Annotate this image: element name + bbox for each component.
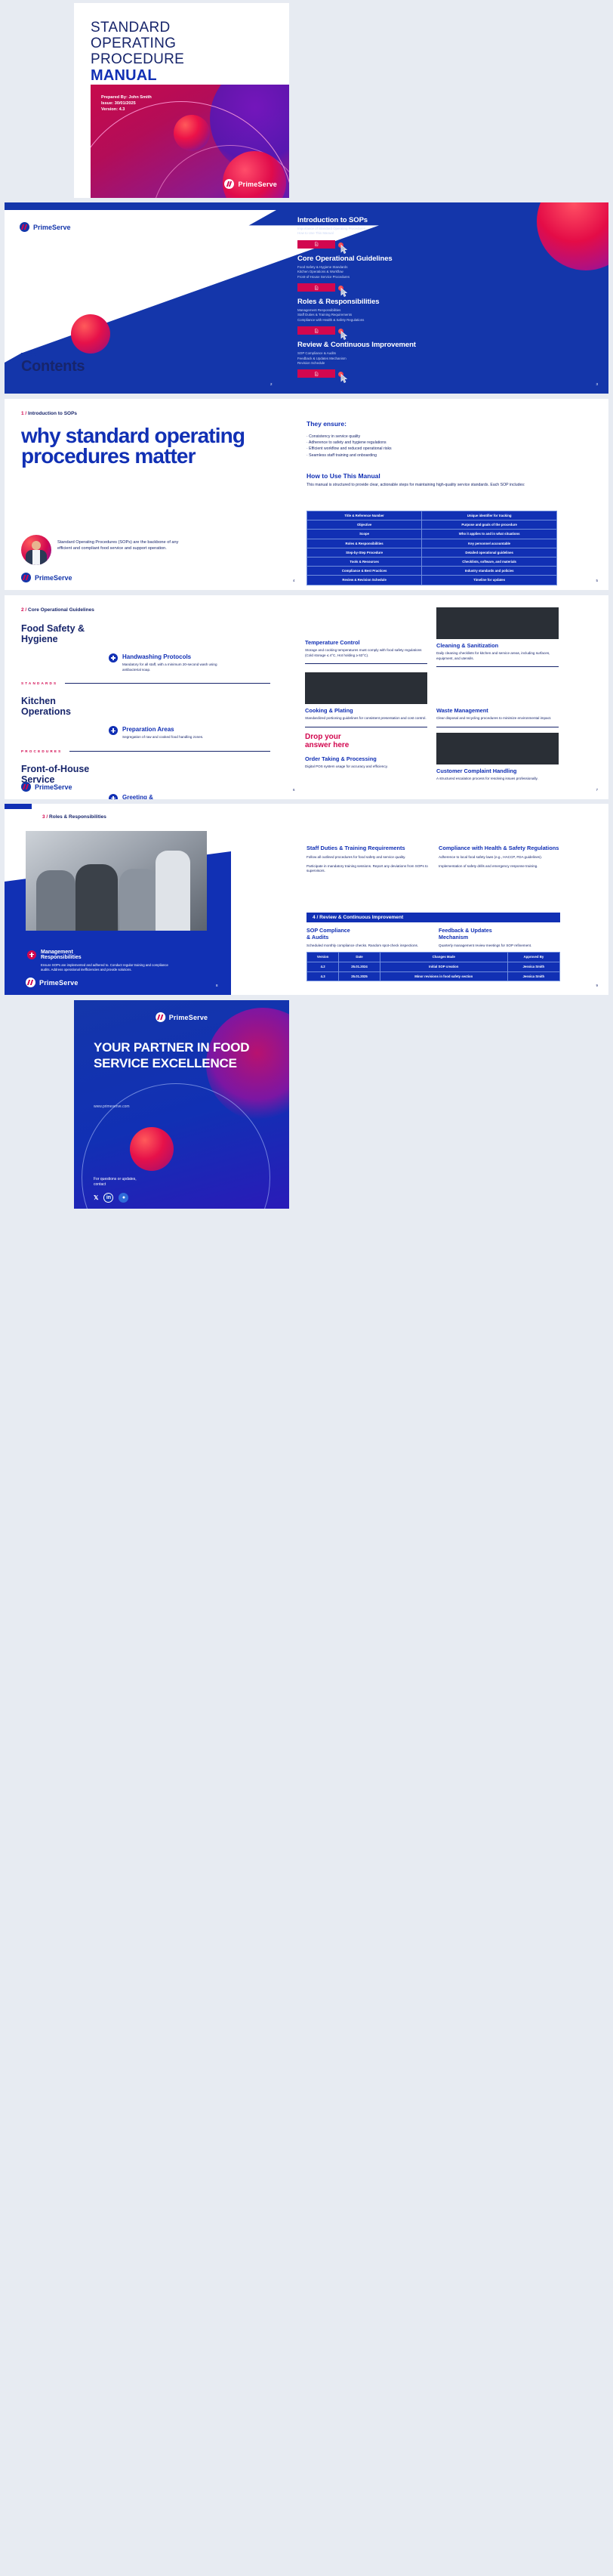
document-icon (314, 372, 319, 376)
page-number-left: 8 (216, 984, 218, 987)
card-body: Storage and cooking temperatures must co… (305, 648, 427, 658)
toc-logo: PrimeServe (20, 222, 71, 232)
toc-sphere-left (71, 314, 110, 354)
card-title: Compliance with Health & Safety Regulati… (439, 845, 560, 851)
card-body-1: Adherence to local food safety laws (e.g… (439, 855, 560, 860)
card-body: A structured escalation process for reso… (436, 777, 559, 782)
sop-structure-table: Title & Reference NumberUnique identifie… (306, 511, 557, 585)
divider-standards: STANDARDS (21, 681, 270, 685)
table-cell: Who it applies to and in what situations (422, 530, 557, 539)
messenger-icon[interactable]: ● (119, 1193, 128, 1203)
divider-line (305, 727, 427, 727)
table-row: 4.2 25.01.2024 Initial SOP creation Jess… (307, 962, 560, 971)
card-customer-complaint: Customer Complaint Handling A structured… (436, 733, 559, 782)
column-header: Version (307, 953, 339, 962)
list-item: Consistency in service quality (306, 434, 556, 440)
divider-line (69, 751, 270, 752)
cover-logo: PrimeServe (224, 179, 277, 189)
table-row: Compliance & Best PracticesIndustry stan… (307, 567, 557, 576)
cover-version: Version: 4.3 (101, 107, 152, 113)
page-number-left: 2 (270, 382, 273, 386)
how-to-use-heading: How to Use This Manual (306, 472, 556, 480)
table-cell: Minor revisions in food safety section (380, 971, 507, 981)
primeserve-logo-icon (20, 222, 29, 232)
card-body: Daily cleaning checklists for kitchen an… (436, 651, 559, 661)
cursor-pointer-icon (338, 372, 348, 383)
cover-metadata: Prepared By: John Smith Issue: 30/01/202… (101, 94, 152, 113)
table-row: ScopeWho it applies to and in what situa… (307, 530, 557, 539)
toc-item-title: Roles & Responsibilities (297, 298, 547, 306)
cover-page: STANDARD OPERATING PROCEDURE MANUAL Prep… (74, 3, 289, 198)
divider-line (305, 663, 427, 664)
group-subitem-preparation[interactable]: Preparation Areas Segregation of raw and… (109, 726, 270, 740)
revision-history-table: Version Date Changes Made Approved By 4.… (306, 952, 560, 981)
divider-label: PROCEDURES (21, 749, 62, 753)
back-sphere-decoration (130, 1127, 174, 1171)
toc-heading-block: Table of Contents (21, 353, 85, 375)
card-title: Cleaning & Sanitization (436, 642, 559, 649)
cover-title-line3: PROCEDURE (91, 51, 272, 67)
table-row: ObjectivePurpose and goals of the proced… (307, 520, 557, 530)
section-name: Core Operational Guidelines (26, 607, 94, 613)
subitem-title: Greeting & Seating (122, 794, 236, 799)
card-title: Customer Complaint Handling (436, 768, 559, 774)
table-cell: Tools & Resources (307, 557, 422, 566)
why-caption: Standard Operating Procedures (SOPs) are… (57, 539, 186, 551)
card-compliance-health-safety: Compliance with Health & Safety Regulati… (439, 845, 560, 874)
cover-sphere-small (174, 115, 210, 151)
card-body: Standardized portioning guidelines for c… (305, 716, 427, 721)
table-cell: Purpose and goals of the procedure (422, 520, 557, 530)
toc-logo-text: PrimeServe (33, 224, 71, 231)
group-title-kitchen: Kitchen Operations (21, 696, 270, 717)
list-item: Efficient workflow and reduced operation… (306, 446, 556, 452)
roles-cards: Staff Duties & Training Requirements Fol… (306, 845, 560, 874)
plus-icon[interactable] (27, 950, 36, 959)
table-cell: Compliance & Best Practices (307, 567, 422, 576)
table-cell: Detailed operational guidelines (422, 548, 557, 557)
cursor-pointer-icon (338, 329, 348, 340)
card-cleaning-sanitization: Cleaning & Sanitization Daily cleaning c… (436, 607, 559, 672)
back-headline: YOUR PARTNER IN FOOD SERVICE EXCELLENCE (94, 1039, 267, 1071)
linkedin-icon[interactable]: in (103, 1193, 113, 1203)
card-body-1: Follow all outlined procedures for food … (306, 855, 428, 860)
table-cell: Scope (307, 530, 422, 539)
card-order-taking: Drop your answer here Order Taking & Pro… (305, 733, 427, 782)
page-number-right: 7 (596, 788, 598, 792)
table-cell: Jessica Smith (507, 971, 559, 981)
toc-title: Contents (21, 358, 85, 375)
subitem-title: Preparation Areas (122, 726, 236, 733)
page-number-right: 9 (596, 984, 598, 987)
document-icon (314, 286, 319, 290)
introduction-page: 1 / Introduction to SOPs why standard op… (5, 399, 608, 590)
table-cell: Jessica Smith (507, 962, 559, 971)
card-title: Cooking & Plating (305, 707, 427, 714)
card-sop-compliance: SOP Compliance & Audits Scheduled monthl… (306, 928, 428, 949)
drop-answer-prompt: Drop your answer here (305, 733, 427, 749)
how-to-use-body: This manual is structured to provide cle… (306, 483, 556, 489)
column-header: Approved By (507, 953, 559, 962)
avatar (21, 535, 51, 565)
toc-item-core-operational[interactable]: Core Operational Guidelines Food Safety … (297, 255, 547, 292)
why-right-column: They ensure: Consistency in service qual… (306, 420, 556, 488)
card-feedback-updates: Feedback & Updates Mechanism Quarterly m… (439, 928, 560, 949)
cursor-pointer-icon (338, 242, 348, 254)
card-body-2: Participate in mandatory training sessio… (306, 864, 428, 874)
primeserve-logo-icon (21, 573, 31, 582)
review-cards: SOP Compliance & Audits Scheduled monthl… (306, 928, 560, 949)
group-subitem-handwashing[interactable]: Handwashing Protocols Mandatory for all … (109, 653, 270, 672)
divider-line (436, 666, 559, 667)
back-cover-page: PrimeServe YOUR PARTNER IN FOOD SERVICE … (74, 1000, 289, 1209)
management-body: Ensure SOPs are implemented and adhered … (41, 963, 171, 972)
card-cooking-plating: Cooking & Plating Standardized portionin… (305, 672, 427, 733)
back-logo: PrimeServe (156, 1012, 208, 1022)
section-name: Roles & Responsibilities (48, 814, 106, 820)
cover-issue-date: Issue: 30/01/2025 (101, 100, 152, 107)
plated-dish-photo (305, 672, 427, 704)
table-cell: 4.2 (307, 962, 339, 971)
card-body: Clear disposal and recycling procedures … (436, 716, 559, 721)
primeserve-logo-icon (21, 782, 31, 792)
card-waste-management: Waste Management Clear disposal and recy… (436, 672, 559, 733)
cover-logo-text: PrimeServe (238, 181, 277, 188)
footer-logo-text: PrimeServe (35, 783, 72, 791)
page-number-left: 4 (293, 579, 295, 582)
toc-items-list: Introduction to SOPs Importance of Stand… (297, 216, 547, 384)
footer-logo-text: PrimeServe (35, 574, 72, 582)
list-item: Seamless staff training and onboarding (306, 452, 556, 459)
toc-item-title: Review & Continuous Improvement (297, 341, 547, 349)
card-title: Waste Management (436, 707, 559, 714)
they-ensure-list: Consistency in service quality Adherence… (306, 434, 556, 459)
management-responsibilities-block: Management Responsibilities Ensure SOPs … (27, 950, 171, 972)
section-name: Introduction to SOPs (26, 411, 77, 416)
section-label: 1 / Introduction to SOPs (21, 411, 248, 416)
footer-logo-text: PrimeServe (39, 979, 79, 987)
toc-item-roles[interactable]: Roles & Responsibilities Management Resp… (297, 298, 547, 335)
roles-footer-logo: PrimeServe (26, 978, 79, 987)
toc-item-sublines: Food Safety & Hygiene Standards Kitchen … (297, 265, 547, 280)
toc-item-button[interactable] (297, 283, 335, 292)
toc-item-button[interactable] (297, 369, 335, 378)
card-body: Quarterly management review meetings for… (439, 944, 560, 949)
table-row: Step-by-Step ProcedureDetailed operation… (307, 548, 557, 557)
cover-title-line2: OPERATING (91, 36, 272, 51)
table-cell: 25.01.2024 (339, 962, 380, 971)
column-header: Changes Made (380, 953, 507, 962)
table-row: Tools & ResourcesChecklists, software, a… (307, 557, 557, 566)
table-cell: Step-by-Step Procedure (307, 548, 422, 557)
card-title: Order Taking & Processing (305, 755, 427, 762)
why-headline: why standard operating procedures matter (21, 425, 248, 466)
table-header-row: Version Date Changes Made Approved By (307, 953, 560, 962)
toc-item-introduction[interactable]: Introduction to SOPs Importance of Stand… (297, 216, 547, 249)
management-title: Management Responsibilities (41, 950, 82, 960)
card-title: SOP Compliance & Audits (306, 928, 428, 941)
page-number-left: 6 (293, 788, 295, 792)
table-cell: Checklists, software, and materials (422, 557, 557, 566)
table-cell: Key personnel accountable (422, 539, 557, 548)
table-cell: Roles & Responsibilities (307, 539, 422, 548)
table-of-contents-page: PrimeServe Table of Contents Introductio… (5, 202, 608, 394)
plus-icon[interactable] (109, 726, 118, 735)
why-footer-logo: PrimeServe (21, 573, 72, 582)
group-subitem-greeting[interactable]: Greeting & Seating Standardized welcome … (109, 794, 270, 799)
page-number-right: 3 (596, 382, 598, 386)
table-cell: Review & Revision Schedule (307, 576, 422, 585)
cover-title: STANDARD OPERATING PROCEDURE MANUAL (91, 20, 272, 84)
toc-item-sublines: Management Responsibilities Staff Duties… (297, 308, 547, 323)
cover-prepared-by: Prepared By: John Smith (101, 94, 152, 100)
subitem-title: Handwashing Protocols (122, 653, 236, 660)
core-cards-grid: Temperature Control Storage and cooking … (305, 607, 559, 781)
table-cell: 25.01.2025 (339, 971, 380, 981)
table-cell: Title & Reference Number (307, 511, 422, 520)
section-label: 3 / Roles & Responsibilities (42, 814, 106, 820)
back-website-url[interactable]: www.primeserve.com (94, 1104, 130, 1109)
card-title: Staff Duties & Training Requirements (306, 845, 428, 851)
subitem-body: Mandatory for all staff, with a minimum … (122, 663, 236, 672)
table-cell: Timeline for updates (422, 576, 557, 585)
management-team-photo (26, 831, 207, 931)
why-left-column: 1 / Introduction to SOPs why standard op… (21, 411, 248, 466)
list-item: Adherence to safety and hygiene regulati… (306, 440, 556, 446)
toc-item-sublines: SOP Compliance & Audits Feedback & Updat… (297, 351, 547, 366)
table-cell: 4.3 (307, 971, 339, 981)
table-row: Roles & ResponsibilitiesKey personnel ac… (307, 539, 557, 548)
back-contact-text: For questions or updates, contact (94, 1177, 137, 1188)
toc-item-button[interactable] (297, 240, 335, 249)
card-temperature-control: Temperature Control Storage and cooking … (305, 607, 427, 672)
toc-item-button[interactable] (297, 326, 335, 335)
section-4-bar: 4 / Review & Continuous Improvement (306, 913, 560, 922)
divider-line (65, 683, 270, 684)
table-row: 4.3 25.01.2025 Minor revisions in food s… (307, 971, 560, 981)
divider-label: STANDARDS (21, 681, 57, 685)
table-row: Review & Revision ScheduleTimeline for u… (307, 576, 557, 585)
cover-title-line1: STANDARD (91, 20, 272, 36)
roles-responsibilities-page: 3 / Roles & Responsibilities Management … (5, 804, 608, 995)
page-number-right: 5 (596, 579, 598, 582)
table-cell: Industry standards and policies (422, 567, 557, 576)
toc-item-title: Introduction to SOPs (297, 216, 547, 224)
group-title-food-safety: Food Safety & Hygiene (21, 623, 270, 644)
card-title: Temperature Control (305, 639, 427, 646)
primeserve-logo-icon (26, 978, 35, 987)
they-ensure-heading: They ensure: (306, 420, 556, 428)
card-body-2: Implementation of safety drills and emer… (439, 864, 560, 869)
core-left-column: 2 / Core Operational Guidelines Food Saf… (21, 607, 270, 799)
divider-line (436, 727, 559, 727)
document-icon (314, 242, 319, 246)
table-cell: Objective (307, 520, 422, 530)
plus-icon[interactable] (109, 794, 118, 799)
cover-title-manual: MANUAL (91, 68, 272, 84)
card-title: Feedback & Updates Mechanism (439, 928, 560, 941)
accent-bar (5, 804, 32, 809)
social-links: 𝕏 in ● (94, 1193, 128, 1203)
plus-icon[interactable] (109, 653, 118, 663)
toc-item-review[interactable]: Review & Continuous Improvement SOP Comp… (297, 341, 547, 378)
card-staff-duties: Staff Duties & Training Requirements Fol… (306, 845, 428, 874)
toc-item-title: Core Operational Guidelines (297, 255, 547, 263)
toc-item-sublines: Importance of Standard Operating Procedu… (297, 227, 547, 236)
kitchen-sink-photo (436, 607, 559, 639)
restaurant-guests-photo (436, 733, 559, 764)
core-operational-guidelines-page: 2 / Core Operational Guidelines Food Saf… (5, 595, 608, 799)
table-cell: Initial SOP creation (380, 962, 507, 971)
subitem-body: Segregation of raw and cooked food handl… (122, 735, 236, 740)
cursor-pointer-icon (338, 286, 348, 297)
section-label: 2 / Core Operational Guidelines (21, 607, 270, 613)
table-row: Title & Reference NumberUnique identifie… (307, 511, 557, 520)
card-body: Scheduled monthly compliance checks. Ran… (306, 944, 428, 949)
primeserve-logo-icon (224, 179, 234, 189)
table-cell: Unique identifier for tracking (422, 511, 557, 520)
card-body: Digital POS system usage for accuracy an… (305, 764, 427, 770)
toc-kicker: Table of (21, 353, 85, 357)
primeserve-logo-icon (156, 1012, 165, 1022)
cover-gradient-panel: Prepared By: John Smith Issue: 30/01/202… (91, 85, 289, 198)
x-icon[interactable]: 𝕏 (94, 1194, 98, 1201)
column-header: Date (339, 953, 380, 962)
document-icon (314, 329, 319, 333)
back-logo-text: PrimeServe (169, 1014, 208, 1021)
divider-procedures: PROCEDURES (21, 749, 270, 753)
core-footer-logo: PrimeServe (21, 782, 72, 792)
